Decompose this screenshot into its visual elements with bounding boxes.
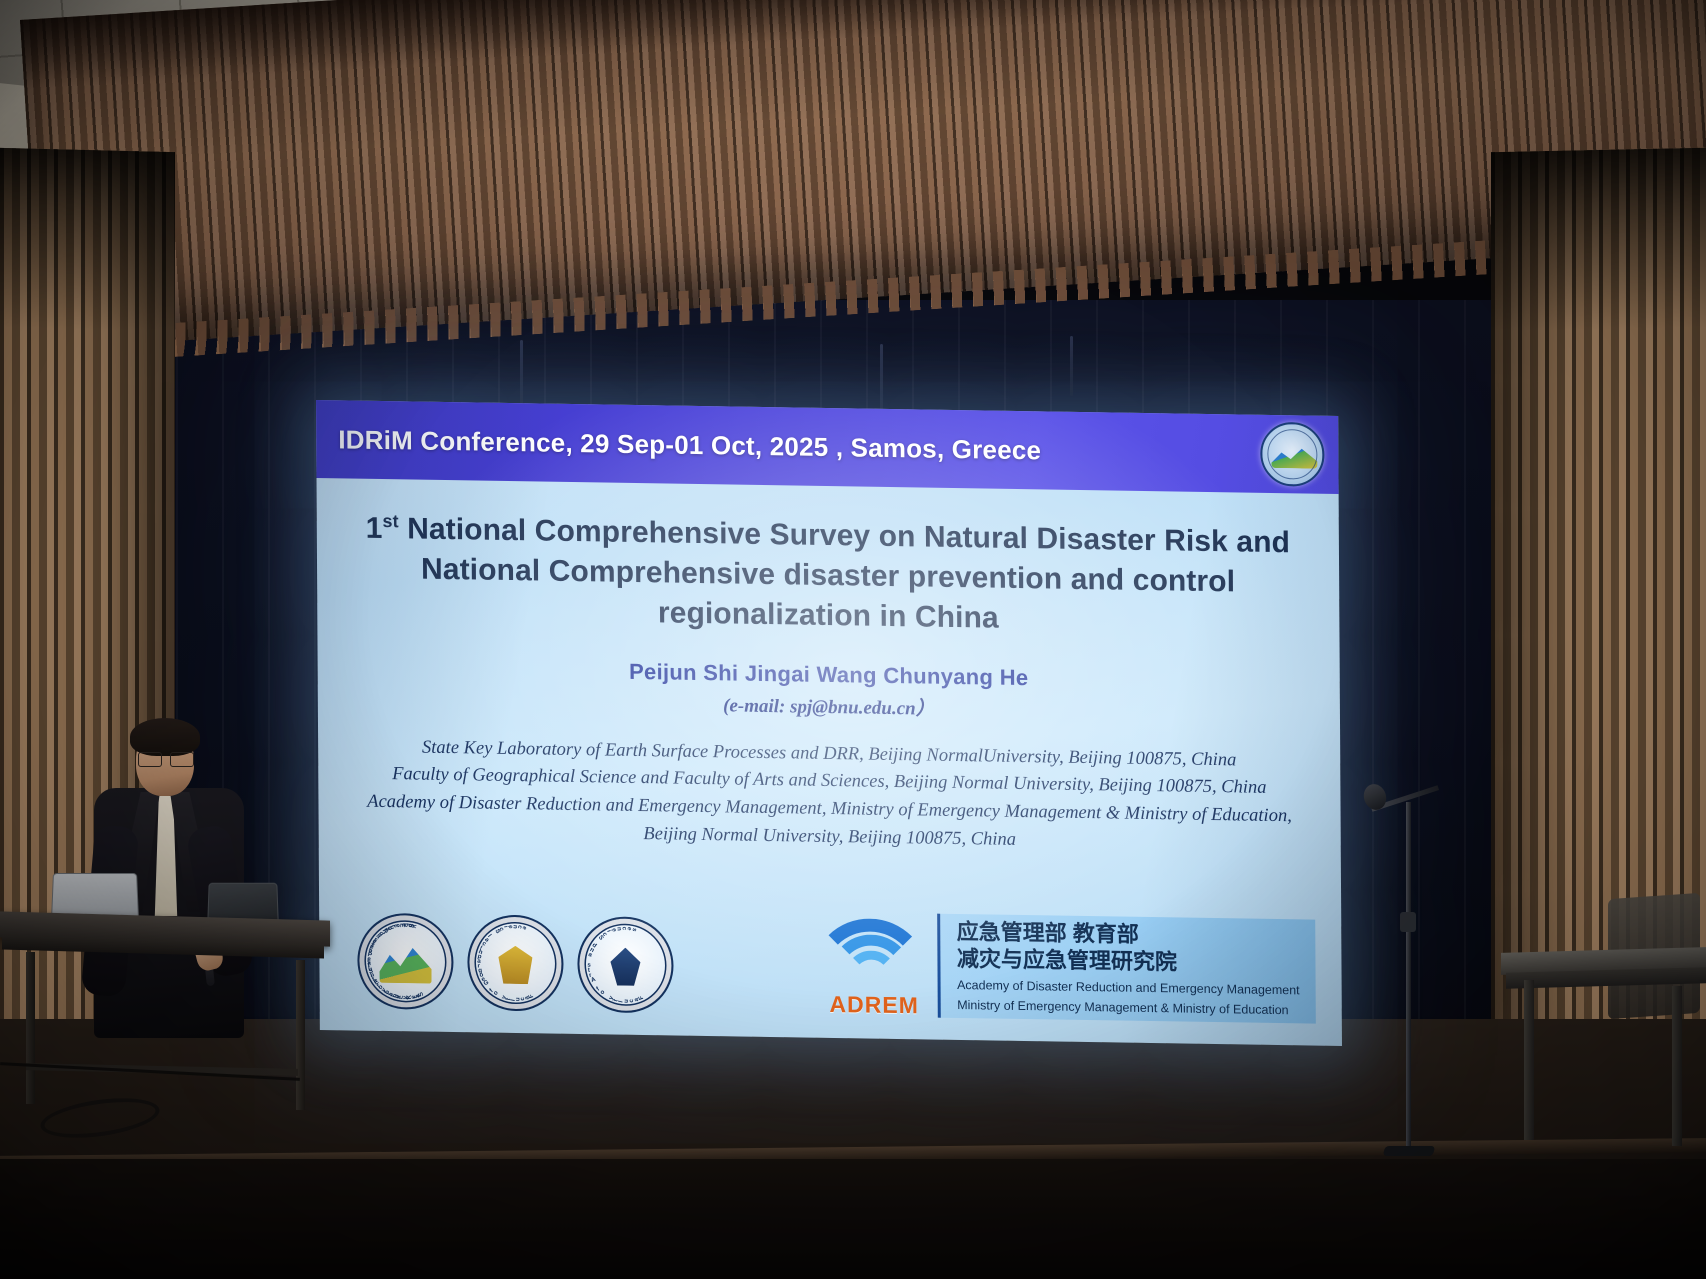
title-ordinal: 1 <box>366 512 383 545</box>
mic-stand-foot <box>1383 1146 1435 1156</box>
slide-logo-row: State Key Laboratory of Earth Surface Pr… <box>357 891 1316 1024</box>
seal-ring-text: Faculty of Arts and Sciences <box>579 918 672 1011</box>
drape-shadow <box>1491 148 1706 333</box>
adrem-text-panel: 应急管理部 教育部 减灾与应急管理研究院 Academy of Disaster… <box>938 914 1316 1024</box>
adrem-en-line2: Ministry of Emergency Management & Minis… <box>957 997 1300 1019</box>
side-table-leg <box>1672 986 1682 1146</box>
glasses-icon <box>138 752 194 765</box>
adrem-cn-line2: 减灾与应急管理研究院 <box>957 946 1300 978</box>
faculty-of-geographical-science-seal-icon: Faculty of Geographical Science <box>467 914 564 1012</box>
conference-hall-scene: IDRiM Conference, 29 Sep-01 Oct, 2025 , … <box>0 0 1706 1279</box>
conference-header-title: IDRiM Conference, 29 Sep-01 Oct, 2025 , … <box>338 424 1041 466</box>
cable-run <box>0 1062 300 1081</box>
seal-ring-text: Faculty of Geographical Science <box>469 916 562 1009</box>
mic-stand-clamp <box>1400 912 1416 932</box>
cable-coil <box>38 1092 162 1144</box>
affiliation-block: State Key Laboratory of Earth Surface Pr… <box>354 733 1305 859</box>
floor-cables <box>0 1040 360 1279</box>
adrem-wordmark: ADREM <box>810 991 938 1020</box>
stage-curtain-valance <box>20 0 1706 349</box>
hanging-cable <box>520 340 523 410</box>
slide-surface: IDRiM Conference, 29 Sep-01 Oct, 2025 , … <box>316 400 1342 1046</box>
drape-shadow <box>0 148 175 332</box>
microphone-stand <box>1378 762 1438 1152</box>
presenter-hair <box>130 718 200 756</box>
mic-stand-pole <box>1406 802 1411 1150</box>
espdrr-seal-logo-header <box>1260 422 1324 487</box>
seal-ring-text: State Key Laboratory of Earth Surface Pr… <box>359 915 452 1008</box>
hanging-cable <box>1070 336 1073 396</box>
title-line2: National Comprehensive disaster preventi… <box>353 548 1304 643</box>
projection-screen[interactable]: IDRiM Conference, 29 Sep-01 Oct, 2025 , … <box>316 400 1342 1046</box>
side-table-leg <box>1524 980 1534 1140</box>
adrem-en-line1: Academy of Disaster Reduction and Emerge… <box>957 977 1300 999</box>
title-ordinal-suffix: st <box>382 511 398 531</box>
slide-main-title: 1st National Comprehensive Survey on Nat… <box>353 509 1304 644</box>
espdrr-seal-icon: State Key Laboratory of Earth Surface Pr… <box>357 913 454 1011</box>
adrem-logo-block: ADREM 应急管理部 教育部 减灾与应急管理研究院 Academy of Di… <box>806 912 1316 1024</box>
adrem-arc-icon: ADREM <box>806 912 939 1018</box>
faculty-of-arts-and-sciences-seal-icon: Faculty of Arts and Sciences <box>577 916 674 1014</box>
side-table <box>1501 950 1706 1160</box>
